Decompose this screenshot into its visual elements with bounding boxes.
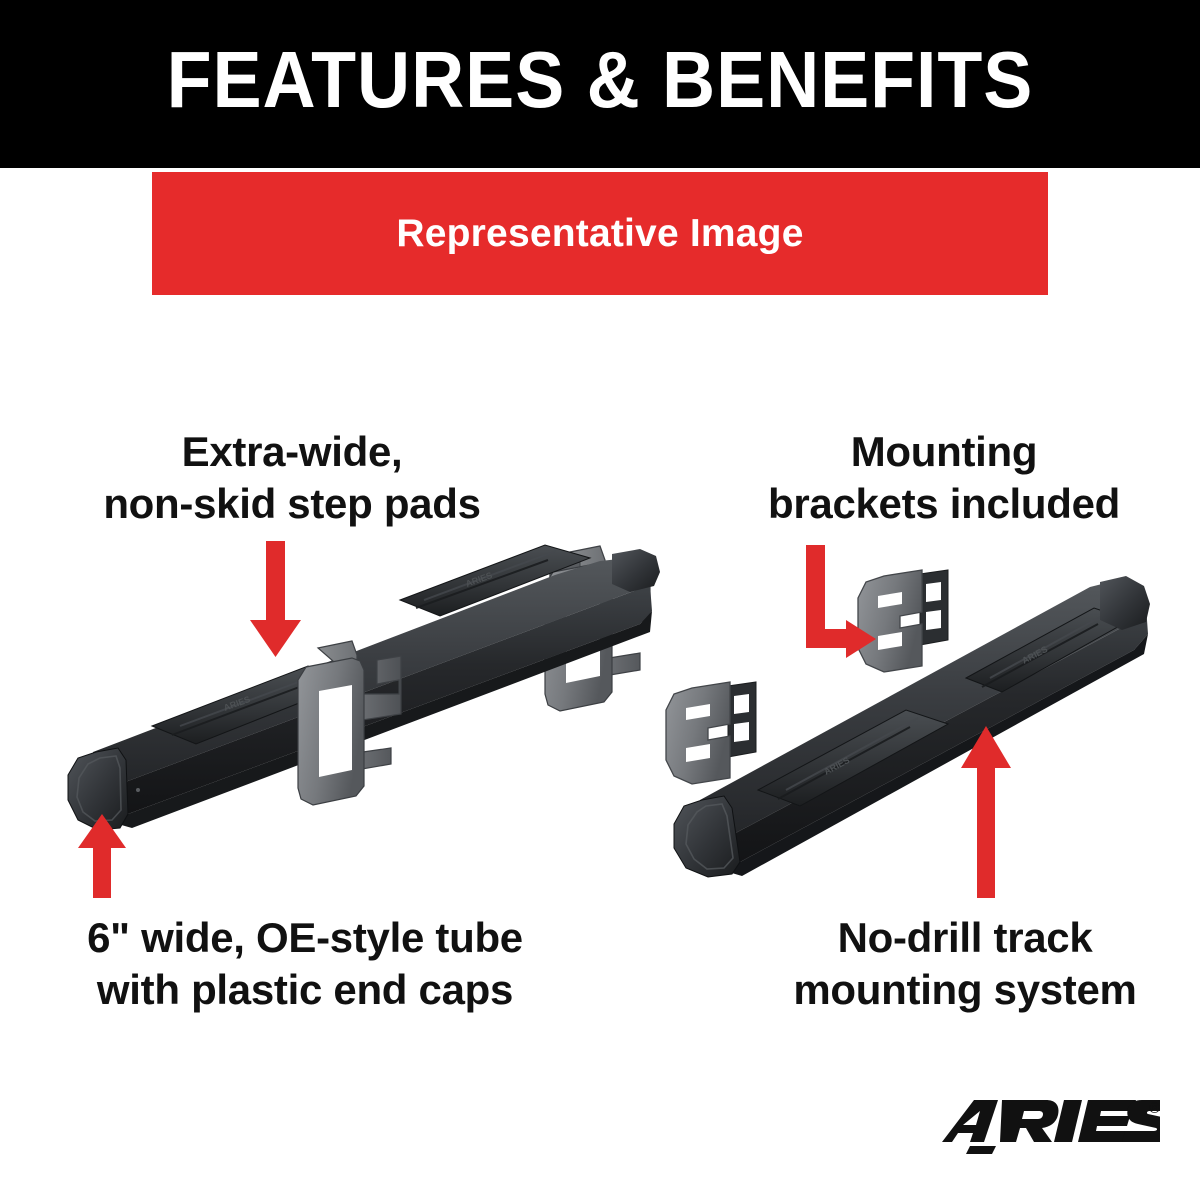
step-pad-near-right: ARIES <box>758 710 948 806</box>
aries-logo: ® <box>940 1094 1160 1158</box>
board-tube-top-left <box>93 557 652 784</box>
board-tube-top-right <box>700 580 1146 836</box>
board-tube-face-left <box>96 585 652 814</box>
product-running-board-right: ARIES ARIES <box>666 570 1150 877</box>
representative-image-label: Representative Image <box>152 172 1048 295</box>
callout-label-step-pads: Extra-wide, non-skid step pads <box>28 426 556 530</box>
tube-brand-emboss-left-1: ARIES <box>222 694 251 713</box>
step-pad-far-left: ARIES <box>400 545 590 616</box>
mounting-bracket-front-left <box>318 641 401 774</box>
step-pad-far-right: ARIES <box>966 608 1130 692</box>
representative-image-banner: Representative Image <box>152 172 1048 295</box>
up-arrow-icon-tube <box>78 814 126 898</box>
end-cap-far-right <box>1100 576 1150 630</box>
end-cap-far-left <box>612 549 660 592</box>
end-cap-near-right <box>674 796 740 877</box>
board-tube-bottom-left <box>98 611 652 828</box>
detached-mounting-bracket-far-right <box>858 570 948 672</box>
callout-label-no-drill-track: No-drill track mounting system <box>740 912 1190 1016</box>
page-title: FEATURES & BENEFITS <box>48 38 1152 122</box>
end-cap-near-left <box>68 748 140 830</box>
registered-trademark-symbol: ® <box>1149 1100 1160 1117</box>
tube-brand-emboss-left-2: ARIES <box>464 570 493 589</box>
tube-brand-emboss-right-1: ARIES <box>822 755 851 777</box>
step-pad-near-left: ARIES <box>152 666 352 744</box>
board-tube-face-right <box>702 606 1148 862</box>
elbow-right-arrow-icon-brackets <box>806 545 876 658</box>
detached-mounting-bracket-near-right <box>666 682 756 784</box>
up-arrow-icon-track-mount <box>961 726 1011 898</box>
mounting-bracket-rear-left <box>547 546 650 687</box>
board-tube-bottom-right <box>706 634 1148 876</box>
mounting-bracket-front-hook-left <box>298 658 364 805</box>
callout-label-oe-style-tube: 6" wide, OE-style tube with plastic end … <box>22 912 588 1016</box>
product-running-board-left: ARIES ARIES <box>68 545 660 830</box>
mounting-bracket-rear-hook-left <box>545 563 612 711</box>
tube-brand-emboss-right-2: ARIES <box>1020 644 1049 666</box>
down-arrow-icon-step-pads <box>250 541 301 657</box>
aries-wordmark-icon <box>940 1094 1160 1158</box>
features-benefits-page: FEATURES & BENEFITS Representative Image <box>0 0 1200 1200</box>
callout-label-mounting-brackets: Mounting brackets included <box>700 426 1188 530</box>
